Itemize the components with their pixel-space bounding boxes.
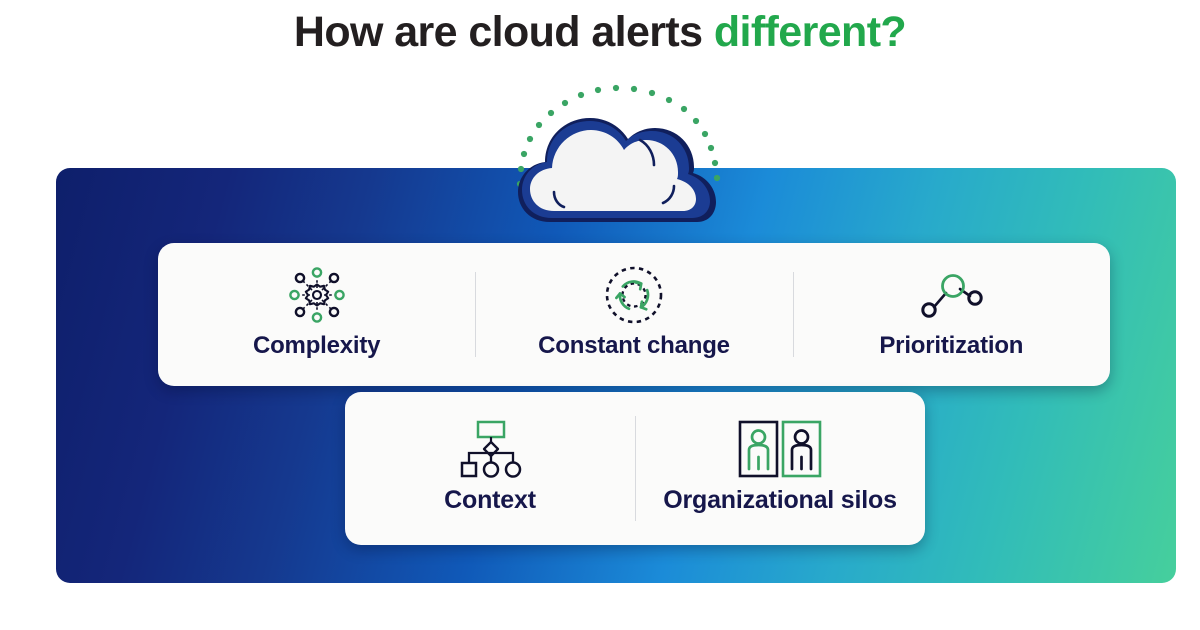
cell-label-context: Context [444, 486, 536, 515]
org-hierarchy-tree-icon [457, 416, 523, 482]
cell-label-organizational-silos: Organizational silos [663, 486, 897, 515]
cell-context[interactable]: Context [345, 392, 635, 545]
cell-complexity[interactable]: Complexity [158, 243, 475, 386]
infographic-canvas: How are cloud alerts different? [0, 0, 1200, 630]
title-text-main: How are cloud alerts [294, 8, 714, 56]
cell-label-prioritization: Prioritization [879, 332, 1023, 360]
cloud-body-icon [518, 118, 716, 222]
card-bottom: Context [345, 392, 925, 545]
cycle-arrows-dashed-icon [603, 264, 665, 326]
cell-prioritization[interactable]: Prioritization [793, 243, 1110, 386]
cloud-icon [494, 80, 738, 230]
cell-label-constant-change: Constant change [538, 332, 730, 360]
cell-constant-change[interactable]: Constant change [475, 243, 792, 386]
cell-organizational-silos[interactable]: Organizational silos [635, 392, 925, 545]
title-text-accent: different? [714, 8, 906, 56]
priority-node-graph-icon [918, 264, 984, 326]
cell-label-complexity: Complexity [253, 332, 380, 360]
page-title: How are cloud alerts different? [0, 6, 1200, 58]
title-text: How are cloud alerts different? [0, 6, 1200, 58]
card-top: Complexity Constant change [158, 243, 1110, 386]
two-people-in-boxes-icon [737, 416, 823, 482]
network-nodes-gear-icon [286, 264, 348, 326]
